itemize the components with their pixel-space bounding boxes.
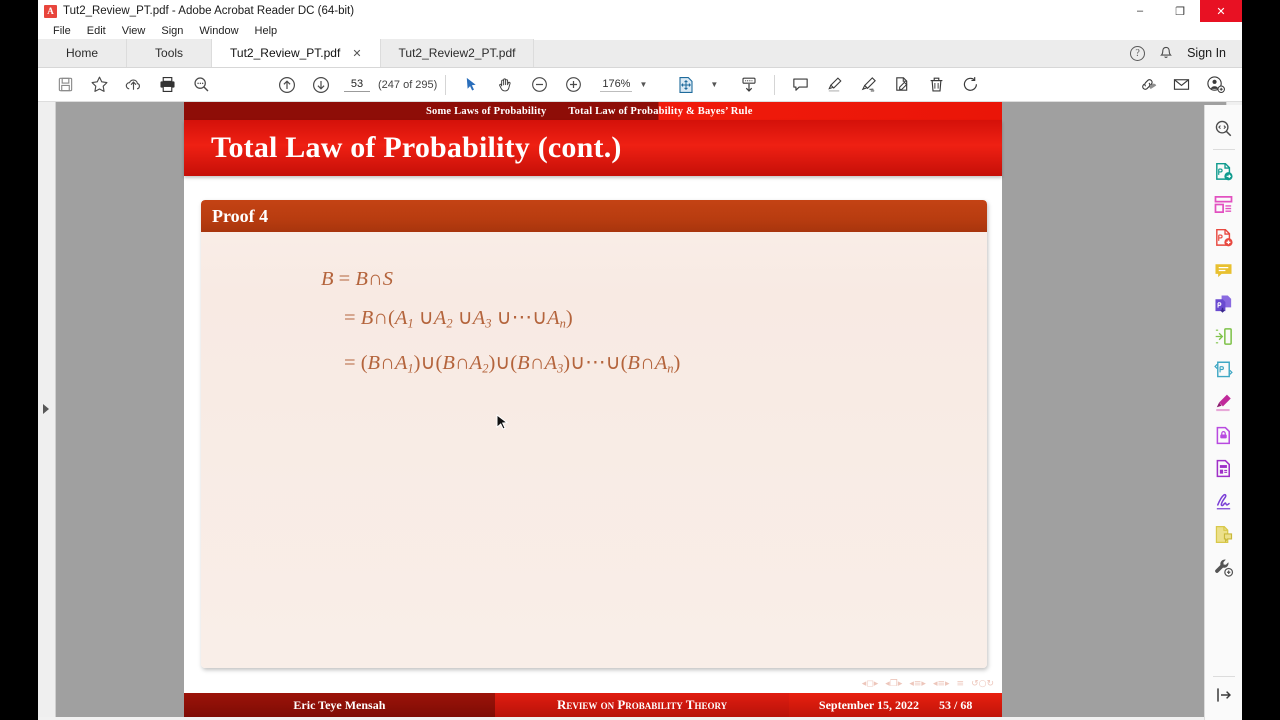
slide-nav-section-1: Some Laws of Probability [426, 106, 546, 117]
beamer-subsection-nav[interactable]: ◂≡▸ [909, 679, 926, 689]
equation-line-3: = (B∩A1)∪(B∩A2)∪(B∩A3)∪⋯∪(B∩An) [321, 344, 987, 389]
help-icon[interactable]: ? [1130, 46, 1145, 61]
slide-footer-author: Eric Teye Mensah [184, 693, 495, 717]
beamer-navigation-symbols[interactable]: ◂◻▸ ◂❐▸ ◂≡▸ ◂≡▸ ≡ ↺○↻ [862, 679, 994, 689]
next-page-icon[interactable] [304, 70, 338, 100]
toolbar: 53 (247 of 295) 176% ▼ [38, 68, 1242, 102]
fit-chevron-down-icon[interactable]: ▼ [710, 80, 718, 89]
toolbar-divider-1 [445, 75, 446, 95]
rail-divider [1213, 149, 1235, 150]
screen-right-border [1242, 0, 1280, 720]
scroll-mode-icon[interactable] [732, 70, 766, 100]
add-comment-icon[interactable] [783, 70, 817, 100]
fill-and-sign-tool-icon[interactable] [1209, 486, 1239, 516]
pdf-canvas[interactable]: Some Laws of Probability Total Law of Pr… [56, 102, 1242, 717]
highlight-tool-icon[interactable] [1209, 387, 1239, 417]
slide-footer-date: September 15, 2022 [819, 698, 919, 713]
screen-left-border [0, 0, 38, 720]
pdf-page: Some Laws of Probability Total Law of Pr… [184, 102, 1002, 717]
organize-pages-tool-icon[interactable] [1209, 189, 1239, 219]
sign-in-button[interactable]: Sign In [1187, 46, 1232, 60]
tab-bar-right-group: ? Sign In [1130, 39, 1242, 67]
save-icon[interactable] [48, 70, 82, 100]
collapse-rail-icon[interactable] [1209, 680, 1239, 710]
tab-home[interactable]: Home [38, 39, 127, 67]
beamer-slide-nav[interactable]: ◂◻▸ [862, 679, 879, 689]
proof-block-header: Proof 4 [201, 200, 987, 232]
beamer-section-nav[interactable]: ◂≡▸ [933, 679, 950, 689]
minimize-button[interactable]: – [1120, 0, 1160, 22]
close-button[interactable]: ✕ [1200, 0, 1242, 22]
add-stamp-icon[interactable] [885, 70, 919, 100]
hand-tool-icon[interactable] [488, 70, 522, 100]
upload-cloud-icon[interactable] [116, 70, 150, 100]
proof-block: Proof 4 B = B∩S = B∩(A1 ∪A2 ∪A3 ∪⋯∪An) =… [201, 200, 987, 668]
add-person-icon[interactable] [1198, 70, 1232, 100]
beamer-frame-nav[interactable]: ◂❐▸ [885, 679, 902, 689]
menu-help[interactable]: Help [248, 24, 285, 38]
tab-document-1-label: Tut2_Review_PT.pdf [230, 46, 340, 60]
menu-file[interactable]: File [46, 24, 78, 38]
combine-files-tool-icon[interactable] [1209, 288, 1239, 318]
fit-page-icon[interactable] [669, 70, 703, 100]
rich-media-tool-icon[interactable] [1209, 453, 1239, 483]
rail-bottom-group [1209, 673, 1239, 710]
add-to-favorites-icon[interactable] [82, 70, 116, 100]
beamer-doc-nav[interactable]: ≡ [957, 679, 965, 689]
delete-icon[interactable] [919, 70, 953, 100]
page-number-input[interactable]: 53 [344, 78, 370, 92]
tab-close-icon[interactable]: ✕ [352, 47, 361, 60]
tab-document-1[interactable]: Tut2_Review_PT.pdf ✕ [212, 39, 381, 67]
toolbar-divider-2 [774, 75, 775, 95]
window-title: Tut2_Review_PT.pdf - Adobe Acrobat Reade… [63, 5, 354, 17]
beamer-back-forward-nav[interactable]: ↺○↻ [971, 679, 994, 689]
chevron-down-icon[interactable]: ▼ [639, 80, 647, 89]
edit-pdf-tool-icon[interactable] [1209, 354, 1239, 384]
equation-line-2: = B∩(A1 ∪A2 ∪A3 ∪⋯∪An) [321, 299, 987, 344]
bell-icon[interactable] [1159, 46, 1173, 61]
menu-bar: File Edit View Sign Window Help [38, 22, 1242, 40]
request-signatures-tool-icon[interactable] [1209, 519, 1239, 549]
slide-footer-right: September 15, 2022 53 / 68 [789, 693, 1002, 717]
window-controls: – ❐ ✕ [1120, 0, 1242, 22]
menu-view[interactable]: View [115, 24, 153, 38]
acrobat-window: A Tut2_Review_PT.pdf - Adobe Acrobat Rea… [38, 0, 1242, 720]
print-icon[interactable] [150, 70, 184, 100]
title-bar: A Tut2_Review_PT.pdf - Adobe Acrobat Rea… [38, 0, 1242, 22]
zoom-level-value[interactable]: 176% [600, 78, 632, 92]
tab-tools[interactable]: Tools [127, 39, 212, 67]
page-count-label: (247 of 295) [378, 79, 437, 91]
share-link-icon[interactable] [1130, 70, 1164, 100]
menu-window[interactable]: Window [192, 24, 245, 38]
equation-line-1: B = B∩S [321, 260, 987, 299]
slide-footer-subject: Review on Probability Theory [495, 693, 789, 717]
select-cursor-icon[interactable] [454, 70, 488, 100]
protect-tool-icon[interactable] [1209, 420, 1239, 450]
previous-page-icon[interactable] [270, 70, 304, 100]
menu-edit[interactable]: Edit [80, 24, 113, 38]
tab-bar: Home Tools Tut2_Review_PT.pdf ✕ Tut2_Rev… [38, 40, 1242, 68]
zoom-in-icon[interactable] [556, 70, 590, 100]
tab-document-2[interactable]: Tut2_Review2_PT.pdf [381, 39, 535, 67]
tab-document-2-label: Tut2_Review2_PT.pdf [399, 46, 516, 60]
more-tools-icon[interactable] [1209, 552, 1239, 582]
email-icon[interactable] [1164, 70, 1198, 100]
slide-title-bar: Total Law of Probability (cont.) [184, 120, 1002, 176]
export-pdf-tool-icon[interactable] [1209, 156, 1239, 186]
rail-divider-bottom [1213, 676, 1235, 677]
slide-section-nav: Some Laws of Probability Total Law of Pr… [184, 102, 1002, 120]
left-navigation-strip[interactable] [38, 102, 56, 717]
expand-left-panel-icon[interactable] [43, 404, 49, 414]
search-icon[interactable] [184, 70, 218, 100]
highlight-text-icon[interactable] [817, 70, 851, 100]
draw-freehand-icon[interactable] [851, 70, 885, 100]
search-document-tool-icon[interactable] [1209, 113, 1239, 143]
slide-footer: Eric Teye Mensah Review on Probability T… [184, 693, 1002, 717]
document-viewer: Some Laws of Probability Total Law of Pr… [38, 102, 1242, 717]
slide-title-text: Total Law of Probability (cont.) [211, 131, 622, 165]
equation-group: B = B∩S = B∩(A1 ∪A2 ∪A3 ∪⋯∪An) = (B∩A1)∪… [201, 232, 987, 388]
toolbar-right-group [1130, 70, 1242, 100]
compress-pdf-tool-icon[interactable] [1209, 321, 1239, 351]
comment-tool-icon[interactable] [1209, 255, 1239, 285]
acrobat-app-icon: A [44, 5, 57, 18]
proof-block-title: Proof 4 [212, 206, 268, 227]
tools-rail [1204, 105, 1242, 720]
slide-footer-page: 53 / 68 [939, 698, 972, 713]
create-pdf-tool-icon[interactable] [1209, 222, 1239, 252]
zoom-out-icon[interactable] [522, 70, 556, 100]
rotate-icon[interactable] [953, 70, 987, 100]
menu-sign[interactable]: Sign [154, 24, 190, 38]
page-navigation: 53 (247 of 295) [344, 78, 437, 92]
slide-nav-section-2: Total Law of Probability & Bayes’ Rule [568, 106, 752, 117]
restore-button[interactable]: ❐ [1160, 0, 1200, 22]
